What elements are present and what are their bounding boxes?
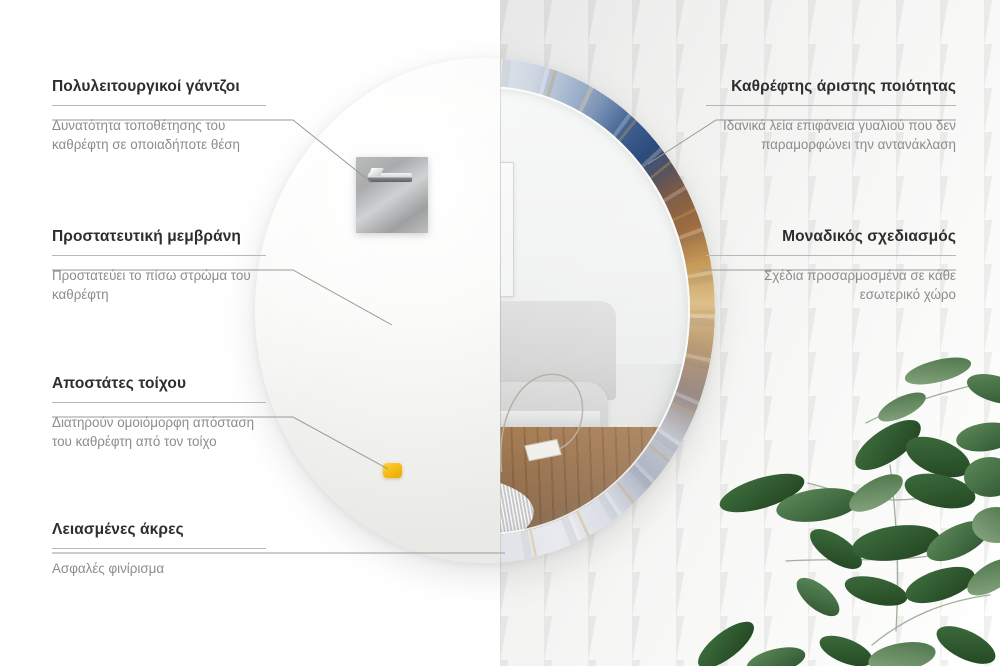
foliage-decoration <box>690 345 1000 666</box>
callout-multifunctional-hooks: Πολυλειτουργικοί γάντζοι Δυνατότητα τοπο… <box>52 78 266 155</box>
callout-protective-membrane: Προστατευτική μεμβράνη Προστατεύει το πί… <box>52 228 266 305</box>
wall-spacer-part <box>383 463 402 478</box>
callout-description: Ιδανικά λεία επιφάνεια γυαλιού που δεν π… <box>706 116 956 155</box>
panel-divider <box>500 0 501 666</box>
product-mirror <box>255 58 715 563</box>
infographic-stage: Πολυλειτουργικοί γάντζοι Δυνατότητα τοπο… <box>0 0 1000 666</box>
callout-rule <box>706 255 956 256</box>
callout-rule <box>52 548 266 549</box>
callout-rule <box>52 255 266 256</box>
callout-rule <box>706 105 956 106</box>
callout-title: Λειασμένες άκρες <box>52 521 266 539</box>
callout-description: Ασφαλές φινίρισμα <box>52 559 266 578</box>
hanging-plate-part <box>356 157 428 233</box>
callout-title: Αποστάτες τοίχου <box>52 375 266 393</box>
callout-smoothed-edges: Λειασμένες άκρες Ασφαλές φινίρισμα <box>52 521 266 578</box>
callout-title: Καθρέφτης άριστης ποιότητας <box>706 78 956 96</box>
callout-rule <box>52 402 266 403</box>
callout-title: Μοναδικός σχεδιασμός <box>706 228 956 246</box>
callout-top-quality-mirror: Καθρέφτης άριστης ποιότητας Ιδανικά λεία… <box>706 78 956 155</box>
callout-description: Δυνατότητα τοποθέτησης του καθρέφτη σε ο… <box>52 116 266 155</box>
callout-description: Σχέδια προσαρμοσμένα σε κάθε εσωτερικό χ… <box>706 266 956 305</box>
callout-wall-spacers: Αποστάτες τοίχου Διατηρούν ομοιόμορφη απ… <box>52 375 266 452</box>
callout-title: Πολυλειτουργικοί γάντζοι <box>52 78 266 96</box>
reflected-wire-decor <box>493 328 599 481</box>
hook-slot-icon <box>368 173 412 182</box>
mirror-disc <box>255 58 715 563</box>
callout-description: Διατηρούν ομοιόμορφη απόσταση του καθρέφ… <box>52 413 266 452</box>
callout-rule <box>52 105 266 106</box>
callout-title: Προστατευτική μεμβράνη <box>52 228 266 246</box>
callout-description: Προστατεύει το πίσω στρώμα του καθρέφτη <box>52 266 266 305</box>
callout-unique-design: Μοναδικός σχεδιασμός Σχέδια προσαρμοσμέν… <box>706 228 956 305</box>
